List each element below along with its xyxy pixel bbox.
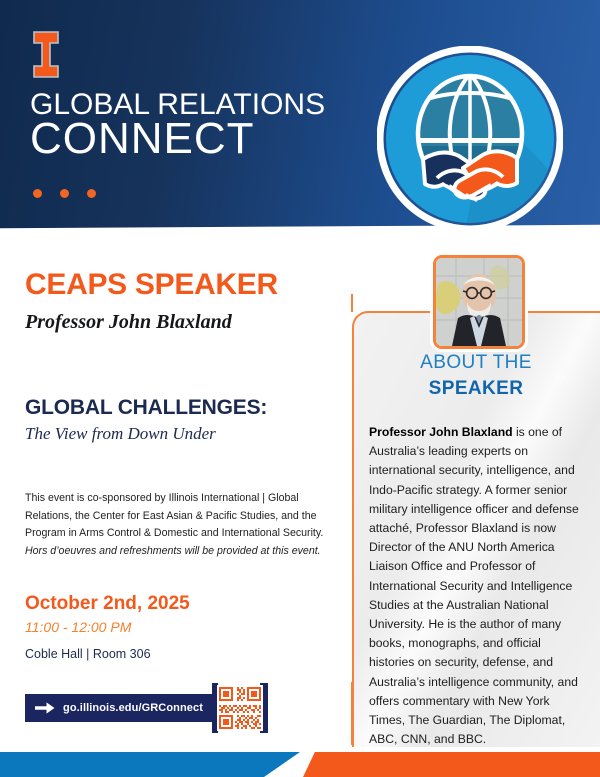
- footer-bar-right: [303, 752, 600, 777]
- qr-code-pattern: [217, 681, 263, 735]
- brand-title: GLOBAL RELATIONS CONNECT: [30, 90, 325, 161]
- event-flyer: GLOBAL RELATIONS CONNECT: [0, 0, 600, 777]
- flyer-header: GLOBAL RELATIONS CONNECT: [0, 0, 600, 232]
- brand-title-line2: CONNECT: [30, 117, 325, 161]
- cosponsor-text: This event is co-sponsored by Illinois I…: [25, 492, 323, 539]
- event-time: 11:00 - 12:00 PM: [25, 619, 131, 635]
- registration-link-text: go.illinois.edu/GRConnect: [63, 702, 203, 714]
- speaker-bio-lead: Professor John Blaxland: [369, 425, 513, 439]
- dot: [33, 189, 42, 198]
- talk-subtitle: The View from Down Under: [25, 424, 216, 444]
- speaker-bio: Professor John Blaxland is one of Austra…: [369, 423, 585, 749]
- column-divider-top: [351, 294, 353, 312]
- about-heading-line1: ABOUT THE: [352, 352, 600, 374]
- footer-bar-left: [0, 752, 300, 777]
- speaker-bio-rest: is one of Australia’s leading experts on…: [369, 425, 579, 746]
- talk-title: GLOBAL CHALLENGES:: [25, 396, 267, 420]
- speaker-portrait: [433, 255, 525, 349]
- globe-handshake-logo: [377, 46, 563, 232]
- cosponsor-block: This event is co-sponsored by Illinois I…: [25, 490, 335, 560]
- refreshments-text: Hors d’oeuvres and refreshments will be …: [25, 545, 321, 557]
- brand-title-line1: GLOBAL RELATIONS: [30, 90, 325, 120]
- qr-code[interactable]: [212, 681, 268, 735]
- registration-link-button[interactable]: go.illinois.edu/GRConnect: [25, 694, 213, 722]
- decorative-dots: [33, 189, 96, 198]
- left-content-column: CEAPS SPEAKER Professor John Blaxland GL…: [0, 232, 352, 742]
- arrow-right-icon: [35, 701, 55, 715]
- speaker-name: Professor John Blaxland: [25, 311, 232, 334]
- event-date: October 2nd, 2025: [25, 593, 190, 615]
- dot: [87, 189, 96, 198]
- about-heading-line2: SPEAKER: [352, 378, 600, 400]
- event-location: Coble Hall | Room 306: [25, 647, 151, 661]
- dot: [60, 189, 69, 198]
- illinois-block-i-logo: [31, 31, 61, 78]
- series-label: CEAPS SPEAKER: [25, 268, 278, 302]
